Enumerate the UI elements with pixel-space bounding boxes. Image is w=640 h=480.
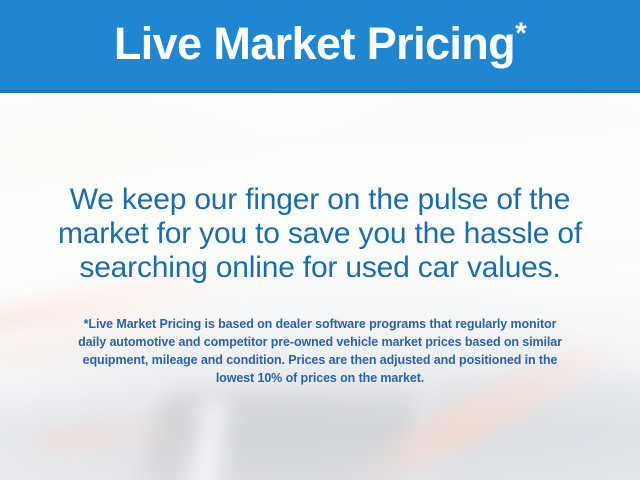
disclaimer-line-2: daily automotive and competitor pre-owne… xyxy=(28,333,612,351)
header-bar: Live Market Pricing* xyxy=(0,0,640,93)
disclaimer-line-4: lowest 10% of prices on the market. xyxy=(28,369,612,387)
page-title-text: Live Market Pricing xyxy=(114,18,515,69)
disclaimer-line-1: *Live Market Pricing is based on dealer … xyxy=(28,315,612,333)
headline-line-1: We keep our finger on the pulse of the xyxy=(18,183,622,217)
page-title-asterisk: * xyxy=(515,17,526,50)
headline-line-3: searching online for used car values. xyxy=(18,251,622,285)
page-title: Live Market Pricing* xyxy=(114,21,526,69)
content-area: We keep our finger on the pulse of the m… xyxy=(0,93,640,480)
disclaimer-line-3: equipment, mileage and condition. Prices… xyxy=(28,351,612,369)
live-market-pricing-banner: Live Market Pricing* We keep our finger … xyxy=(0,0,640,480)
headline: We keep our finger on the pulse of the m… xyxy=(18,183,622,285)
disclaimer-text: *Live Market Pricing is based on dealer … xyxy=(28,315,612,387)
headline-line-2: market for you to save you the hassle of xyxy=(18,217,622,251)
